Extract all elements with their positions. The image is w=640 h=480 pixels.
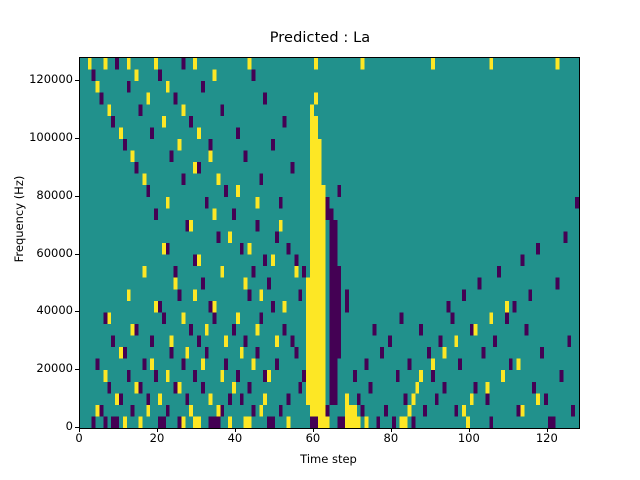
y-tick-label: 80000	[0, 190, 73, 202]
y-tick-mark	[75, 311, 79, 312]
heatmap-image	[80, 58, 579, 428]
x-tick-label: 60	[283, 433, 343, 445]
x-tick-label: 100	[439, 433, 499, 445]
x-tick-label: 80	[361, 433, 421, 445]
y-tick-mark	[75, 196, 79, 197]
x-tick-mark	[469, 428, 470, 432]
x-tick-label: 40	[205, 433, 265, 445]
y-tick-label: 0	[0, 421, 73, 433]
x-tick-mark	[313, 428, 314, 432]
x-tick-label: 20	[127, 433, 187, 445]
x-tick-mark	[391, 428, 392, 432]
x-tick-label: 120	[517, 433, 577, 445]
x-tick-mark	[235, 428, 236, 432]
y-tick-label: 120000	[0, 74, 73, 86]
y-tick-mark	[75, 369, 79, 370]
y-tick-mark	[75, 138, 79, 139]
matplotlib-figure: Predicted : La Frequency (Hz) Time step …	[0, 0, 640, 480]
y-tick-label: 40000	[0, 305, 73, 317]
y-tick-mark	[75, 80, 79, 81]
y-tick-mark	[75, 254, 79, 255]
x-tick-mark	[547, 428, 548, 432]
y-tick-label: 60000	[0, 248, 73, 260]
x-tick-mark	[79, 428, 80, 432]
x-tick-label: 0	[49, 433, 109, 445]
x-axis-label: Time step	[79, 452, 578, 466]
page-title: Predicted : La	[0, 30, 640, 46]
y-tick-label: 20000	[0, 363, 73, 375]
x-tick-mark	[157, 428, 158, 432]
heatmap-axes	[79, 57, 580, 429]
y-tick-label: 100000	[0, 132, 73, 144]
